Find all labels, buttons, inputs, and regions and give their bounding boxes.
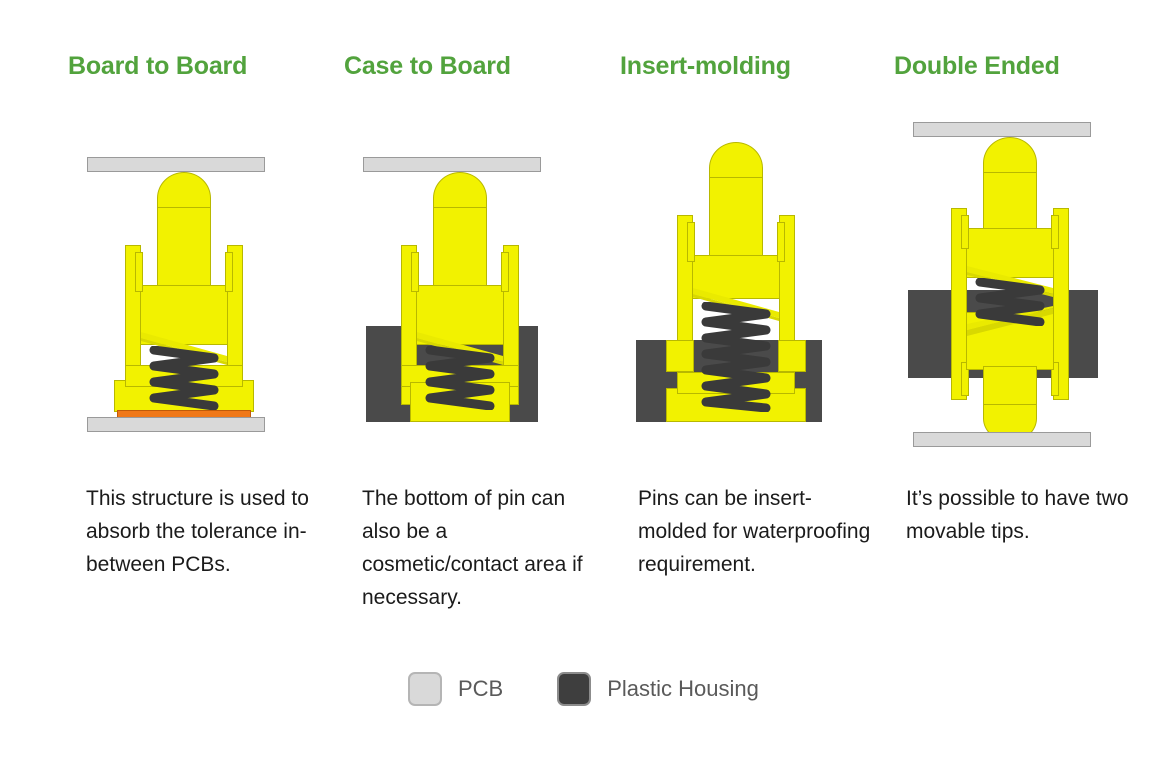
caption-insert-molding: Pins can be insert-molded for waterproof…: [638, 482, 878, 581]
caption-case-to-board: The bottom of pin can also be a cosmetic…: [362, 482, 602, 614]
column-title-double-ended: Double Ended: [894, 52, 1060, 81]
column-title-insert-molding: Insert-molding: [620, 52, 791, 81]
spring-coil: [146, 346, 222, 410]
barrel-lip-right: [225, 252, 233, 292]
column-title-case-to-board: Case to Board: [344, 52, 511, 81]
legend-item-pcb: PCB: [408, 672, 503, 706]
plunger-shaft-top: [983, 172, 1037, 230]
plastic-housing-swatch-icon: [557, 672, 591, 706]
figure-board-to-board: [62, 110, 340, 460]
figure-insert-molding: [614, 110, 892, 460]
barrel-lip-right: [501, 252, 509, 292]
spring-coil: [422, 346, 498, 410]
legend-item-plastic-housing: Plastic Housing: [557, 672, 759, 706]
barrel-shoulder-left: [666, 340, 694, 372]
spring-coil: [698, 302, 774, 412]
figure-case-to-board: [338, 110, 616, 460]
caption-board-to-board: This structure is used to absorb the tol…: [86, 482, 326, 581]
barrel-lip-left: [135, 252, 143, 292]
spring-coil: [972, 278, 1048, 326]
column-case-to-board: Case to Board: [338, 0, 616, 640]
barrel-lip-right: [1051, 215, 1059, 249]
figure-double-ended: [888, 110, 1158, 460]
pcb-swatch-icon: [408, 672, 442, 706]
legend-label-plastic-housing: Plastic Housing: [607, 676, 759, 702]
column-board-to-board: Board to Board: [62, 0, 340, 640]
barrel-lip-left: [687, 222, 695, 262]
column-double-ended: Double Ended: [888, 0, 1158, 640]
barrel-lip-left: [961, 215, 969, 249]
pcb-bottom: [913, 432, 1091, 447]
plunger-shaft: [157, 207, 211, 287]
caption-double-ended: It’s possible to have two movable tips.: [906, 482, 1156, 548]
plunger-shaft: [433, 207, 487, 287]
barrel-lip-right: [777, 222, 785, 262]
pcb-bottom: [87, 417, 265, 432]
pcb-top: [87, 157, 265, 172]
pcb-top: [363, 157, 541, 172]
barrel-lip-left: [411, 252, 419, 292]
barrel-shoulder-right: [778, 340, 806, 372]
legend: PCB Plastic Housing: [408, 672, 759, 706]
legend-label-pcb: PCB: [458, 676, 503, 702]
plunger-shaft: [709, 177, 763, 257]
diagram-canvas: Board to Board: [0, 0, 1158, 777]
pcb-top: [913, 122, 1091, 137]
column-title-board-to-board: Board to Board: [68, 52, 247, 81]
column-insert-molding: Insert-molding: [614, 0, 892, 640]
